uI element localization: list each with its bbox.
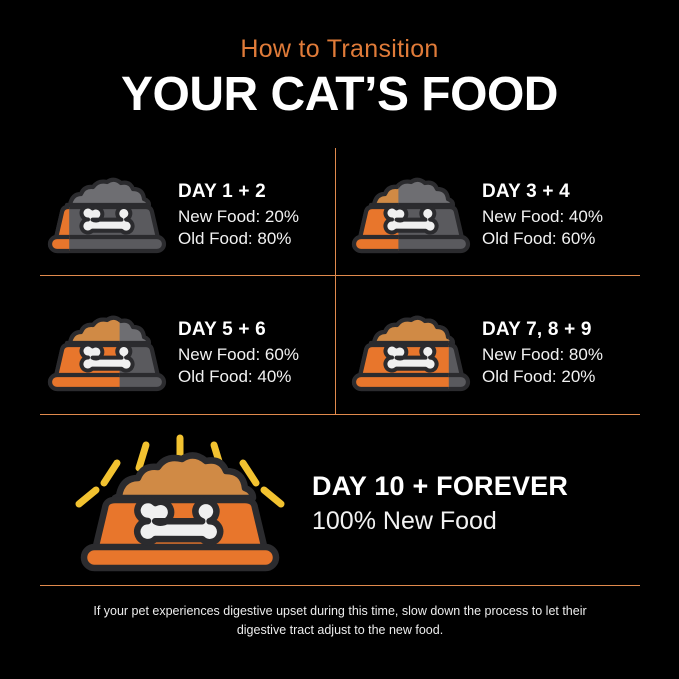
step-card-day-1-2: DAY 1 + 2 New Food: 20% Old Food: 80%	[44, 168, 334, 264]
cat-food-bowl-icon	[44, 173, 170, 259]
day-label: DAY 5 + 6	[178, 319, 334, 341]
cat-food-bowl-icon	[348, 311, 474, 397]
new-food-line: New Food: 60%	[178, 344, 334, 366]
header: How to Transition YOUR CAT’S FOOD	[0, 0, 679, 120]
final-step-row: DAY 10 + FOREVER 100% New Food	[44, 432, 640, 574]
final-step-text: DAY 10 + FOREVER 100% New Food	[312, 470, 640, 535]
step-card-day-7-8-9: DAY 7, 8 + 9 New Food: 80% Old Food: 20%	[348, 306, 638, 402]
eyebrow-title: How to Transition	[0, 36, 679, 64]
day-label: DAY 3 + 4	[482, 181, 638, 203]
divider-horizontal-footer	[40, 585, 640, 586]
day-label: DAY 1 + 2	[178, 181, 334, 203]
cat-food-bowl-icon	[348, 173, 474, 259]
new-food-line: New Food: 20%	[178, 206, 334, 228]
page-title: YOUR CAT’S FOOD	[0, 70, 679, 120]
final-subtitle: 100% New Food	[312, 506, 640, 536]
divider-horizontal-middle	[40, 275, 640, 276]
old-food-line: Old Food: 20%	[482, 366, 638, 388]
new-food-line: New Food: 80%	[482, 344, 638, 366]
old-food-line: Old Food: 80%	[178, 228, 334, 250]
final-day-label: DAY 10 + FOREVER	[312, 470, 640, 502]
divider-horizontal-lower	[40, 414, 640, 415]
new-food-line: New Food: 40%	[482, 206, 638, 228]
step-card-day-5-6: DAY 5 + 6 New Food: 60% Old Food: 40%	[44, 306, 334, 402]
infographic-root: How to Transition YOUR CAT’S FOOD	[0, 0, 679, 679]
cat-food-bowl-shining-icon	[74, 434, 286, 572]
step-card-day-3-4: DAY 3 + 4 New Food: 40% Old Food: 60%	[348, 168, 638, 264]
old-food-line: Old Food: 60%	[482, 228, 638, 250]
step-text-day-1-2: DAY 1 + 2 New Food: 20% Old Food: 80%	[178, 181, 334, 250]
day-label: DAY 7, 8 + 9	[482, 319, 638, 341]
step-text-day-5-6: DAY 5 + 6 New Food: 60% Old Food: 40%	[178, 319, 334, 388]
step-text-day-3-4: DAY 3 + 4 New Food: 40% Old Food: 60%	[482, 181, 638, 250]
old-food-line: Old Food: 40%	[178, 366, 334, 388]
footer-note: If your pet experiences digestive upset …	[70, 602, 610, 641]
cat-food-bowl-icon	[44, 311, 170, 397]
step-text-day-7-8-9: DAY 7, 8 + 9 New Food: 80% Old Food: 20%	[482, 319, 638, 388]
divider-vertical-center	[335, 148, 336, 415]
